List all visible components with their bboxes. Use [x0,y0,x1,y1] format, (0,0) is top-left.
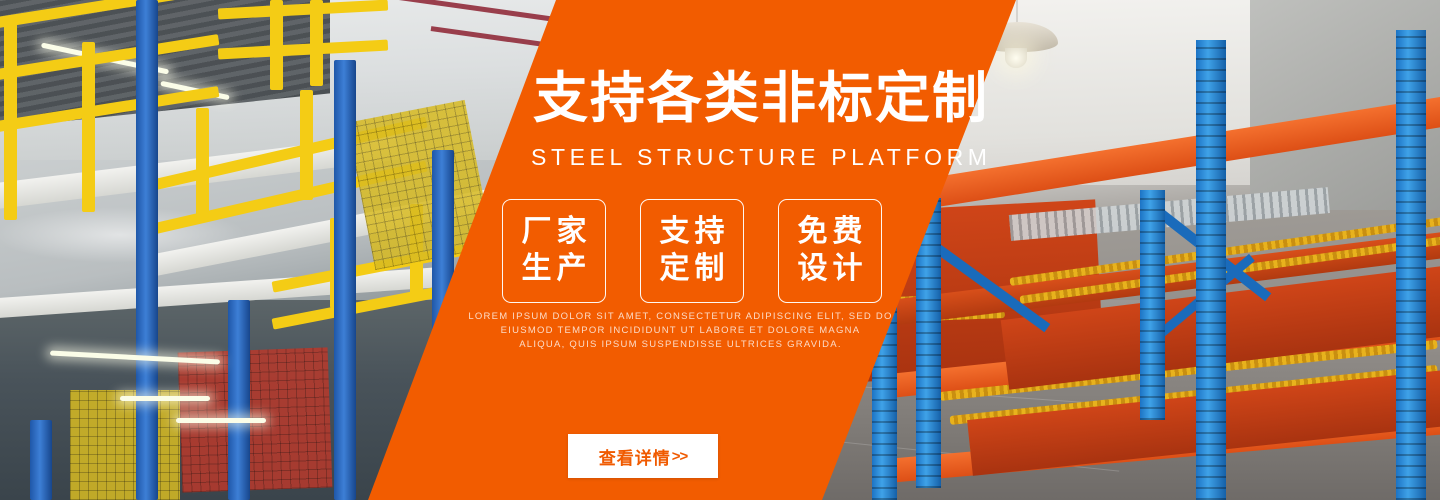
description-line-1: LOREM IPSUM DOLOR SIT AMET, CONSECTETUR … [447,310,914,324]
description-text: LOREM IPSUM DOLOR SIT AMET, CONSECTETUR … [447,310,914,353]
view-details-button[interactable]: 查看详情 >> [568,434,718,478]
feature-tag-line2: 定制 [655,252,730,287]
hero-banner: 支持各类非标定制 STEEL STRUCTURE PLATFORM 厂家 生产 … [0,0,1440,500]
page-subtitle: STEEL STRUCTURE PLATFORM [531,144,992,171]
feature-tag-manufacturer[interactable]: 厂家 生产 [502,199,606,303]
feature-tag-customization[interactable]: 支持 定制 [640,199,744,303]
view-details-label: 查看详情 [599,444,671,469]
feature-tag-free-design[interactable]: 免费 设计 [778,199,882,303]
feature-tag-line1: 免费 [793,215,868,250]
feature-tag-line1: 支持 [655,215,730,250]
description-line-2: EIUSMOD TEMPOR INCIDIDUNT UT LABORE ET D… [447,324,914,338]
description-line-3: ALIQUA, QUIS IPSUM SUSPENDISSE ULTRICES … [447,338,914,352]
feature-tag-row: 厂家 生产 支持 定制 免费 设计 [502,199,882,303]
feature-tag-line1: 厂家 [517,215,592,250]
feature-tag-line2: 设计 [793,252,868,287]
banner-content: 支持各类非标定制 STEEL STRUCTURE PLATFORM 厂家 生产 … [0,0,1440,500]
feature-tag-line2: 生产 [517,252,592,287]
chevron-right-icon: >> [672,448,688,465]
page-title: 支持各类非标定制 [533,70,989,128]
